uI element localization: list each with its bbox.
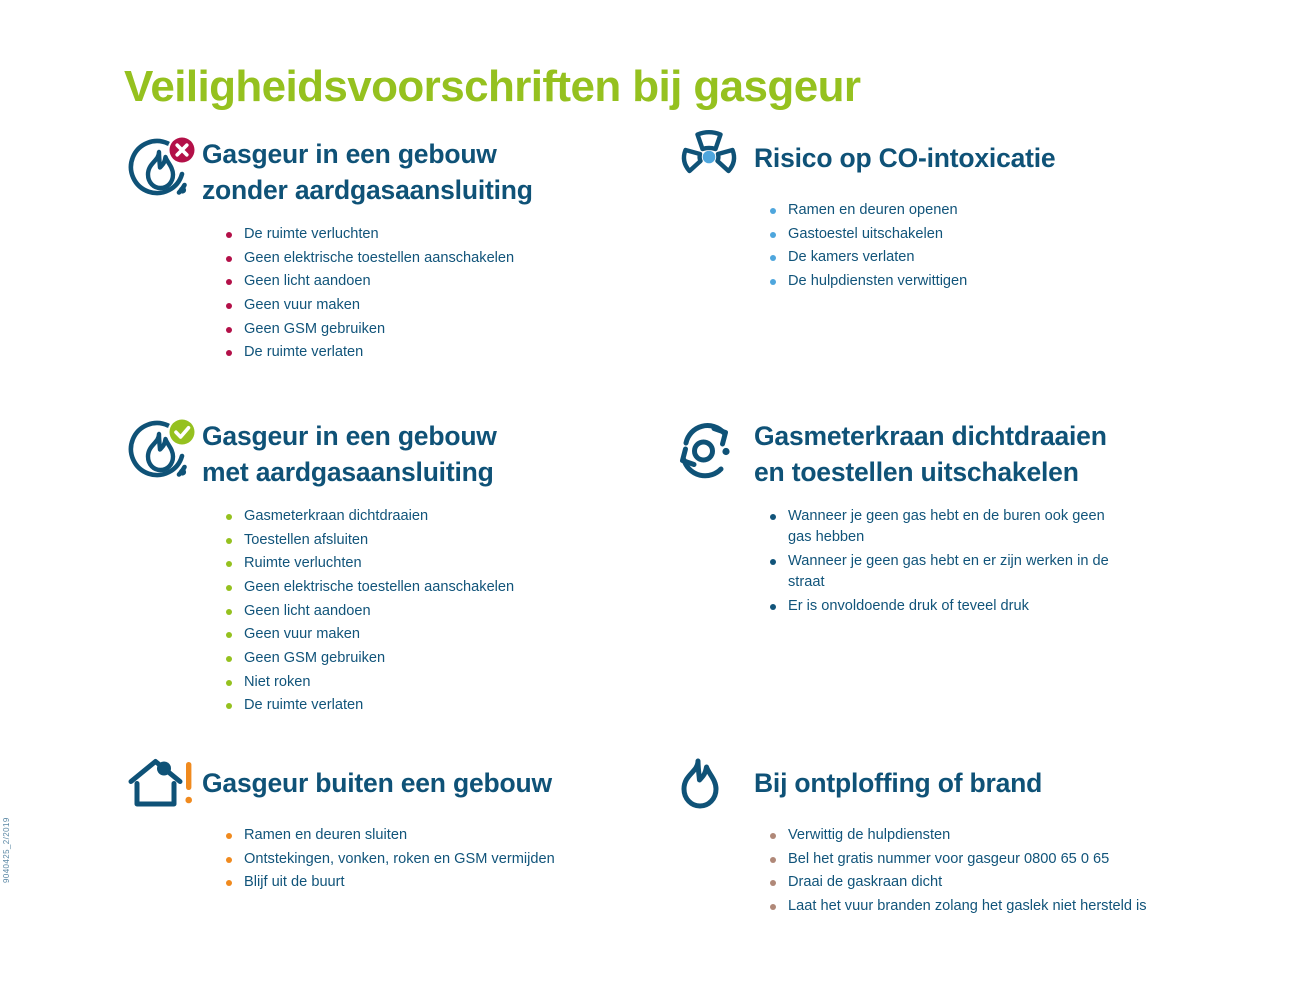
radiation-hazard-icon	[676, 130, 754, 188]
section-header: Risico op CO-intoxicatie	[676, 130, 1236, 188]
section-title-line: Bij ontploffing of brand	[754, 765, 1042, 801]
section-header: Gasgeur in een gebouw met aardgasaanslui…	[124, 412, 664, 492]
section-header: Gasgeur buiten een gebouw	[124, 755, 664, 813]
list-item: Wanneer je geen gas hebt en er zijn werk…	[760, 551, 1128, 593]
section-title: Gasgeur buiten een gebouw	[202, 755, 552, 801]
list-item: Geen licht aandoen	[216, 271, 664, 292]
section-title-line: Gasgeur in een gebouw	[202, 136, 533, 172]
list-item: De ruimte verlaten	[216, 695, 664, 716]
section-title: Gasgeur in een gebouw zonder aardgasaans…	[202, 130, 533, 208]
section-title-line: Gasmeterkraan dichtdraaien	[754, 418, 1107, 454]
list-item: Wanneer je geen gas hebt en de buren ook…	[760, 506, 1118, 548]
section-risico-co-intoxicatie: Risico op CO-intoxicatie Ramen en deuren…	[676, 130, 1236, 295]
list-item: Draai de gaskraan dicht	[760, 872, 1236, 893]
list-item: Ontstekingen, vonken, roken en GSM vermi…	[216, 849, 664, 870]
list-item: De ruimte verluchten	[216, 224, 664, 245]
section-gasgeur-gebouw-met-aansluiting: Gasgeur in een gebouw met aardgasaanslui…	[124, 412, 664, 719]
list-item: Niet roken	[216, 672, 664, 693]
rotate-valve-icon	[676, 412, 754, 492]
list-item: Gasmeterkraan dichtdraaien	[216, 506, 664, 527]
section-list-wrap: Wanneer je geen gas hebt en de buren ook…	[676, 492, 1236, 617]
list-item: Blijf uit de buurt	[216, 872, 664, 893]
list-item: Er is onvoldoende druk of teveel druk	[760, 596, 1236, 617]
section-title-line: zonder aardgasaansluiting	[202, 172, 533, 208]
list-item: Gastoestel uitschakelen	[760, 224, 1236, 245]
list-item: Geen vuur maken	[216, 295, 664, 316]
section-title: Gasgeur in een gebouw met aardgasaanslui…	[202, 412, 497, 490]
bullet-list: Wanneer je geen gas hebt en de buren ook…	[760, 506, 1236, 617]
infographic-page: 9040425_2/2019 Veiligheidsvoorschriften …	[0, 0, 1300, 990]
list-item: Geen elektrische toestellen aanschakelen	[216, 248, 664, 269]
section-title-line: Gasgeur in een gebouw	[202, 418, 497, 454]
section-gasgeur-gebouw-zonder-aansluiting: Gasgeur in een gebouw zonder aardgasaans…	[124, 130, 664, 366]
page-title: Veiligheidsvoorschriften bij gasgeur	[124, 63, 860, 111]
list-item: De hulpdiensten verwittigen	[760, 271, 1236, 292]
section-header: Gasmeterkraan dichtdraaien en toestellen…	[676, 412, 1236, 492]
bullet-list: De ruimte verluchten Geen elektrische to…	[216, 224, 664, 363]
list-item: Geen GSM gebruiken	[216, 319, 664, 340]
list-item: Geen GSM gebruiken	[216, 648, 664, 669]
section-gasgeur-buiten-gebouw: Gasgeur buiten een gebouw Ramen en deure…	[124, 755, 664, 896]
list-item: Toestellen afsluiten	[216, 530, 664, 551]
bullet-list: Ramen en deuren openen Gastoestel uitsch…	[760, 200, 1236, 292]
list-item: Bel het gratis nummer voor gasgeur 0800 …	[760, 849, 1236, 870]
section-list-wrap: Verwittig de hulpdiensten Bel het gratis…	[676, 813, 1236, 917]
section-title: Bij ontploffing of brand	[754, 755, 1042, 801]
section-list-wrap: De ruimte verluchten Geen elektrische to…	[124, 210, 664, 363]
section-title-line: en toestellen uitschakelen	[754, 454, 1107, 490]
list-item: Ramen en deuren sluiten	[216, 825, 664, 846]
list-item: De ruimte verlaten	[216, 342, 664, 363]
bullet-list: Gasmeterkraan dichtdraaien Toestellen af…	[216, 506, 664, 716]
section-list-wrap: Gasmeterkraan dichtdraaien Toestellen af…	[124, 492, 664, 716]
list-item: Verwittig de hulpdiensten	[760, 825, 1236, 846]
list-item: Geen licht aandoen	[216, 601, 664, 622]
section-title-line: Gasgeur buiten een gebouw	[202, 765, 552, 801]
list-item: Geen elektrische toestellen aanschakelen	[216, 577, 664, 598]
house-warning-icon	[124, 755, 202, 813]
section-bij-ontploffing-of-brand: Bij ontploffing of brand Verwittig de hu…	[676, 755, 1236, 920]
section-title: Risico op CO-intoxicatie	[754, 130, 1055, 176]
section-list-wrap: Ramen en deuren sluiten Ontstekingen, vo…	[124, 813, 664, 893]
flame-icon	[676, 755, 754, 813]
list-item: Geen vuur maken	[216, 624, 664, 645]
section-title-line: Risico op CO-intoxicatie	[754, 140, 1055, 176]
flame-circle-check-icon	[124, 412, 202, 492]
section-gasmeterkraan-dichtdraaien: Gasmeterkraan dichtdraaien en toestellen…	[676, 412, 1236, 619]
flame-circle-cross-icon	[124, 130, 202, 210]
section-list-wrap: Ramen en deuren openen Gastoestel uitsch…	[676, 188, 1236, 292]
section-title: Gasmeterkraan dichtdraaien en toestellen…	[754, 412, 1107, 490]
bullet-list: Verwittig de hulpdiensten Bel het gratis…	[760, 825, 1236, 917]
list-item: Laat het vuur branden zolang het gaslek …	[760, 896, 1236, 917]
list-item: Ramen en deuren openen	[760, 200, 1236, 221]
list-item: De kamers verlaten	[760, 247, 1236, 268]
document-reference-code: 9040425_2/2019	[2, 763, 11, 883]
bullet-list: Ramen en deuren sluiten Ontstekingen, vo…	[216, 825, 664, 893]
section-header: Gasgeur in een gebouw zonder aardgasaans…	[124, 130, 664, 210]
list-item: Ruimte verluchten	[216, 553, 664, 574]
section-title-line: met aardgasaansluiting	[202, 454, 497, 490]
section-header: Bij ontploffing of brand	[676, 755, 1236, 813]
